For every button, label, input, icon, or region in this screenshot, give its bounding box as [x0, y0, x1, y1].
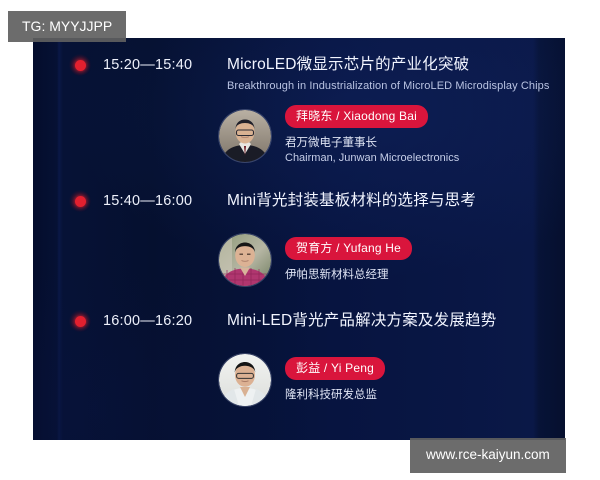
- speaker-info: 彭益 / Yi Peng 隆利科技研发总监: [271, 357, 385, 403]
- session-item: 16:00—16:20 Mini-LED背光产品解决方案及发展趋势: [33, 286, 565, 406]
- session-titles: MicroLED微显示芯片的产业化突破 Breakthrough in Indu…: [223, 54, 565, 95]
- session-bullet-icon: [67, 310, 93, 332]
- session-time: 16:00—16:20: [93, 310, 223, 332]
- session-title-cn: MicroLED微显示芯片的产业化突破: [227, 54, 565, 76]
- session-time: 15:40—16:00: [93, 190, 223, 212]
- speaker-role-cn: 伊帕思新材料总经理: [285, 267, 412, 283]
- speaker-name-badge: 彭益 / Yi Peng: [285, 357, 385, 380]
- session-item: 15:20—15:40 MicroLED微显示芯片的产业化突破 Breakthr…: [33, 38, 565, 166]
- session-header: 16:00—16:20 Mini-LED背光产品解决方案及发展趋势: [33, 310, 565, 332]
- speaker-name-badge: 贺育方 / Yufang He: [285, 237, 412, 260]
- session-time: 15:20—15:40: [93, 54, 223, 76]
- session-titles: Mini-LED背光产品解决方案及发展趋势: [223, 310, 565, 332]
- bullet-dot: [75, 60, 86, 71]
- session-bullet-icon: [67, 54, 93, 76]
- avatar: [219, 354, 271, 406]
- avatar: [219, 234, 271, 286]
- speaker-block: 拜晓东 / Xiaodong Bai 君万微电子董事长 Chairman, Ju…: [33, 105, 565, 166]
- session-header: 15:20—15:40 MicroLED微显示芯片的产业化突破 Breakthr…: [33, 54, 565, 95]
- speaker-block: 彭益 / Yi Peng 隆利科技研发总监: [33, 354, 565, 406]
- speaker-block: 贺育方 / Yufang He 伊帕思新材料总经理: [33, 234, 565, 286]
- session-list: 15:20—15:40 MicroLED微显示芯片的产业化突破 Breakthr…: [33, 38, 565, 406]
- session-titles: Mini背光封装基板材料的选择与思考: [223, 190, 565, 212]
- agenda-panel: 15:20—15:40 MicroLED微显示芯片的产业化突破 Breakthr…: [33, 38, 565, 440]
- bullet-dot: [75, 316, 86, 327]
- session-header: 15:40—16:00 Mini背光封装基板材料的选择与思考: [33, 190, 565, 212]
- speaker-name-badge: 拜晓东 / Xiaodong Bai: [285, 105, 428, 128]
- session-title-cn: Mini背光封装基板材料的选择与思考: [227, 190, 565, 212]
- bullet-dot: [75, 196, 86, 207]
- watermark-top-left: TG: MYYJJPP: [8, 11, 126, 42]
- session-item: 15:40—16:00 Mini背光封装基板材料的选择与思考: [33, 166, 565, 286]
- speaker-info: 贺育方 / Yufang He 伊帕思新材料总经理: [271, 237, 412, 283]
- avatar: [219, 110, 271, 162]
- speaker-role-cn: 隆利科技研发总监: [285, 387, 385, 403]
- watermark-bottom-right: www.rce-kaiyun.com: [410, 438, 566, 473]
- speaker-role-en: Chairman, Junwan Microelectronics: [285, 151, 459, 166]
- speaker-info: 拜晓东 / Xiaodong Bai 君万微电子董事长 Chairman, Ju…: [271, 105, 459, 166]
- session-title-cn: Mini-LED背光产品解决方案及发展趋势: [227, 310, 565, 332]
- session-title-en: Breakthrough in Industrialization of Mic…: [227, 78, 565, 95]
- session-bullet-icon: [67, 190, 93, 212]
- speaker-role-cn: 君万微电子董事长: [285, 135, 459, 151]
